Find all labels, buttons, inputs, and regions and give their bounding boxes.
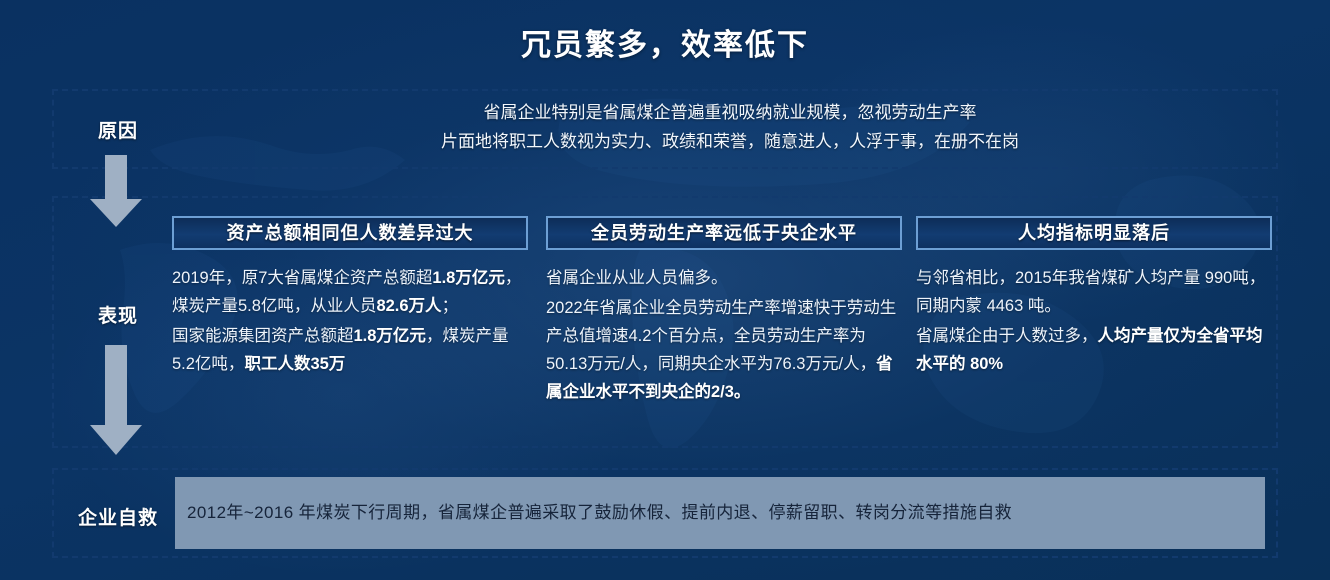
self-rescue-bar: 2012年~2016 年煤炭下行周期，省属煤企普遍采取了鼓励休假、提前内退、停薪… — [175, 477, 1265, 549]
self-rescue-text: 2012年~2016 年煤炭下行周期，省属煤企普遍采取了鼓励休假、提前内退、停薪… — [187, 501, 1012, 525]
text-paragraph: 省属企业从业人员偏多。 — [546, 264, 902, 292]
manifestation-column-3: 人均指标明显落后 与邻省相比，2015年我省煤矿人均产量 990吨，同期内蒙 4… — [916, 216, 1272, 380]
rail-label-manifestation: 表现 — [58, 301, 178, 328]
column-header-1: 资产总额相同但人数差异过大 — [172, 216, 528, 250]
text-paragraph: 与邻省相比，2015年我省煤矿人均产量 990吨，同期内蒙 4463 吨。 — [916, 264, 1272, 320]
column-body-2: 省属企业从业人员偏多。2022年省属企业全员劳动生产率增速快于劳动生产总值增速4… — [546, 264, 902, 406]
cause-line-1: 省属企业特别是省属煤企普遍重视吸纳就业规模，忽视劳动生产率 — [200, 98, 1260, 127]
text-paragraph: 2019年，原7大省属煤企资产总额超1.8万亿元，煤炭产量5.8亿吨，从业人员8… — [172, 264, 528, 320]
column-header-2: 全员劳动生产率远低于央企水平 — [546, 216, 902, 250]
page-title: 冗员繁多，效率低下 — [0, 20, 1330, 64]
text-paragraph: 省属煤企由于人数过多，人均产量仅为全省平均水平的 80% — [916, 322, 1272, 378]
manifestation-column-1: 资产总额相同但人数差异过大 2019年，原7大省属煤企资产总额超1.8万亿元，煤… — [172, 216, 528, 380]
text-paragraph: 国家能源集团资产总额超1.8万亿元，煤炭产量5.2亿吨，职工人数35万 — [172, 322, 528, 378]
down-arrow-icon — [88, 155, 144, 227]
text-paragraph: 2022年省属企业全员劳动生产率增速快于劳动生产总值增速4.2个百分点，全员劳动… — [546, 294, 902, 406]
manifestation-column-2: 全员劳动生产率远低于央企水平 省属企业从业人员偏多。2022年省属企业全员劳动生… — [546, 216, 902, 408]
rail-label-cause: 原因 — [58, 116, 178, 143]
column-body-1: 2019年，原7大省属煤企资产总额超1.8万亿元，煤炭产量5.8亿吨，从业人员8… — [172, 264, 528, 378]
cause-text-block: 省属企业特别是省属煤企普遍重视吸纳就业规模，忽视劳动生产率 片面地将职工人数视为… — [200, 98, 1260, 156]
down-arrow-icon — [88, 345, 144, 455]
rail-label-self-rescue: 企业自救 — [58, 503, 178, 530]
column-body-3: 与邻省相比，2015年我省煤矿人均产量 990吨，同期内蒙 4463 吨。省属煤… — [916, 264, 1272, 378]
column-header-3: 人均指标明显落后 — [916, 216, 1272, 250]
cause-line-2: 片面地将职工人数视为实力、政绩和荣誉，随意进人，人浮于事，在册不在岗 — [200, 127, 1260, 156]
